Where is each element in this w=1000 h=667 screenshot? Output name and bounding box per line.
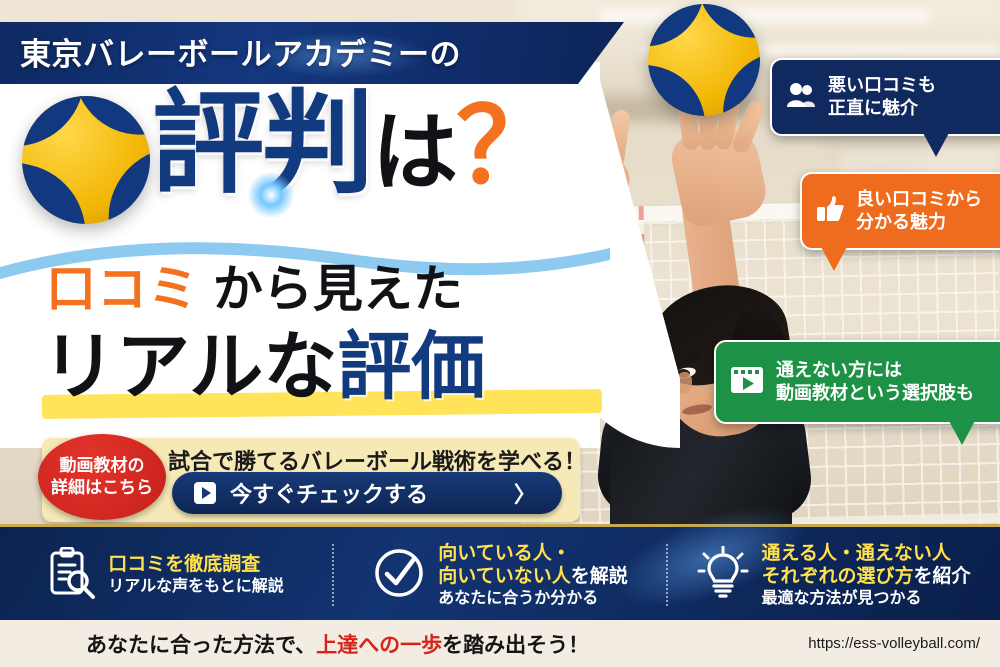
feature-text: 向いている人・ 向いていない人を解説 あなたに合うか分かる [438,542,627,609]
feature-title-suffix: を解説 [571,566,628,587]
headline-secondary-rest: から見えた [199,261,463,317]
headline-tertiary-navy: 評価 [337,325,485,408]
feature-title-line: 向いていない人 [438,566,570,587]
callout-bad-reviews: 悪い口コミも 正直に魅介 [770,58,1000,136]
headline-primary: 評判は？ [152,88,558,200]
callout-line-2: 分かる魅力 [856,212,946,232]
badge-line-2: 詳細はこちら [51,477,153,499]
callout-tail [922,131,950,157]
headline-question-mark: ？ [456,89,558,205]
feature-subtitle: あなたに合うか分かる [438,589,627,609]
cta-check-now-button[interactable]: 今すぐチェックする 〉 [172,472,562,514]
callout-tail [948,419,976,445]
site-url[interactable]: https://ess-volleyball.com/ [808,635,980,652]
callout-line-2: 動画教材という選択肢も [776,383,974,403]
feature-bar: 口コミを徹底調査 リアルな声をもとに解説 向いている人・ 向いていない人を解説 … [0,524,1000,623]
headline-tertiary-black: リアルな [42,325,337,408]
feature-subtitle: 最適な方法が見つかる [761,589,970,609]
play-icon [194,482,216,504]
kuchikomi-highlight: 口コミ [46,261,199,317]
feature-item-options: 通える人・通えない人 それぞれの選び方を紹介 最適な方法が見つかる [668,527,1000,623]
feature-title-line: それぞれの選び方 [761,566,913,587]
chevron-right-icon: 〉 [514,477,536,509]
sparkle-icon [248,172,294,218]
footer-message-highlight: 上達への一歩 [316,634,442,657]
video-material-badge[interactable]: 動画教材の 詳細はこちら [38,434,166,520]
callout-line-1: 良い口コミから [856,189,982,209]
feature-subtitle: リアルな声をもとに解説 [108,577,284,597]
thumbs-up-icon [816,195,844,228]
feature-title-line: 向いている人・ [438,543,570,564]
callout-text: 良い口コミから 分かる魅力 [856,188,982,235]
footer-message-pre: あなたに合った方法で、 [86,634,316,657]
feature-item-suitability: 向いている人・ 向いていない人を解説 あなたに合うか分かる [334,527,666,623]
headline-secondary: 口コミ から見えた [46,264,463,314]
feature-text: 口コミを徹底調査 リアルな声をもとに解説 [108,553,284,596]
callout-line-2: 正直に魅介 [828,98,918,118]
promo-banner: 東京バレーボールアカデミーの 評判は？ 口コミ から見えた リアルな評価 試合で… [0,0,1000,667]
callout-line-1: 悪い口コミも [828,75,936,95]
callout-video-course: 通えない方には 動画教材という選択肢も [714,340,1000,424]
feature-text: 通える人・通えない人 それぞれの選び方を紹介 最適な方法が見つかる [761,542,970,609]
headline-particle: は [372,105,456,201]
check-circle-icon [372,546,426,605]
footer-message-post: を踏み出そう！ [442,634,589,657]
headline-tertiary: リアルな評価 [42,330,485,404]
cta-button-label: 今すぐチェックする [230,477,428,509]
feature-title-line: 通える人・通えない人 [761,543,950,564]
footer-message: あなたに合った方法で、上達への一歩を踏み出そう！ [86,629,589,659]
ribbon-title: 東京バレーボールアカデミーの [20,29,580,74]
callout-good-reviews: 良い口コミから 分かる魅力 [800,172,1000,250]
callout-text: 通えない方には 動画教材という選択肢も [776,359,974,406]
feature-title-suffix: を紹介 [914,566,971,587]
feature-item-research: 口コミを徹底調査 リアルな声をもとに解説 [0,527,332,623]
badge-line-1: 動画教材の [60,455,145,477]
callout-tail [820,245,848,271]
clipboard-search-icon [48,547,96,604]
feature-title-line: 口コミを徹底調査 [108,554,260,575]
volleyball-left-graphic [22,96,150,224]
people-icon [786,82,816,113]
callout-line-1: 通えない方には [776,360,902,380]
footer-bar: あなたに合った方法で、上達への一歩を踏み出そう！ https://ess-vol… [0,620,1000,667]
video-play-icon [730,365,764,400]
lightbulb-icon [697,546,749,605]
callout-text: 悪い口コミも 正直に魅介 [828,74,936,121]
